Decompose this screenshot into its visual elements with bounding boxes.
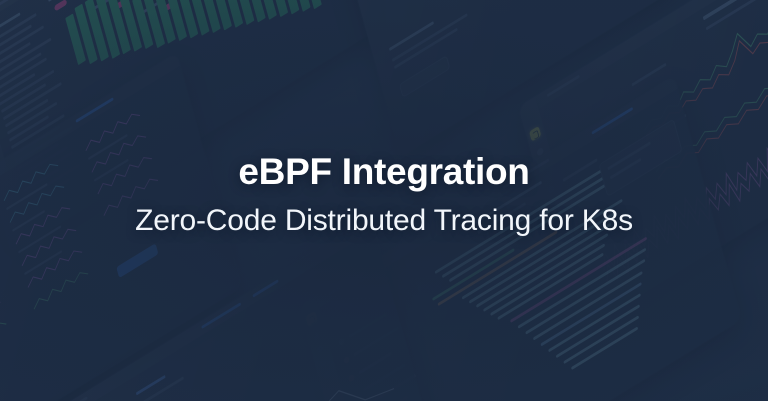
page-title: eBPF Integration bbox=[0, 150, 768, 194]
ebpf-integration-banner: eBPF Integration Zero-Code Distributed T… bbox=[0, 0, 768, 401]
action-button[interactable] bbox=[399, 55, 451, 98]
page-subtitle: Zero-Code Distributed Tracing for K8s bbox=[0, 202, 768, 240]
brand-logo-icon bbox=[529, 126, 541, 142]
headline-group: eBPF Integration Zero-Code Distributed T… bbox=[0, 150, 768, 240]
